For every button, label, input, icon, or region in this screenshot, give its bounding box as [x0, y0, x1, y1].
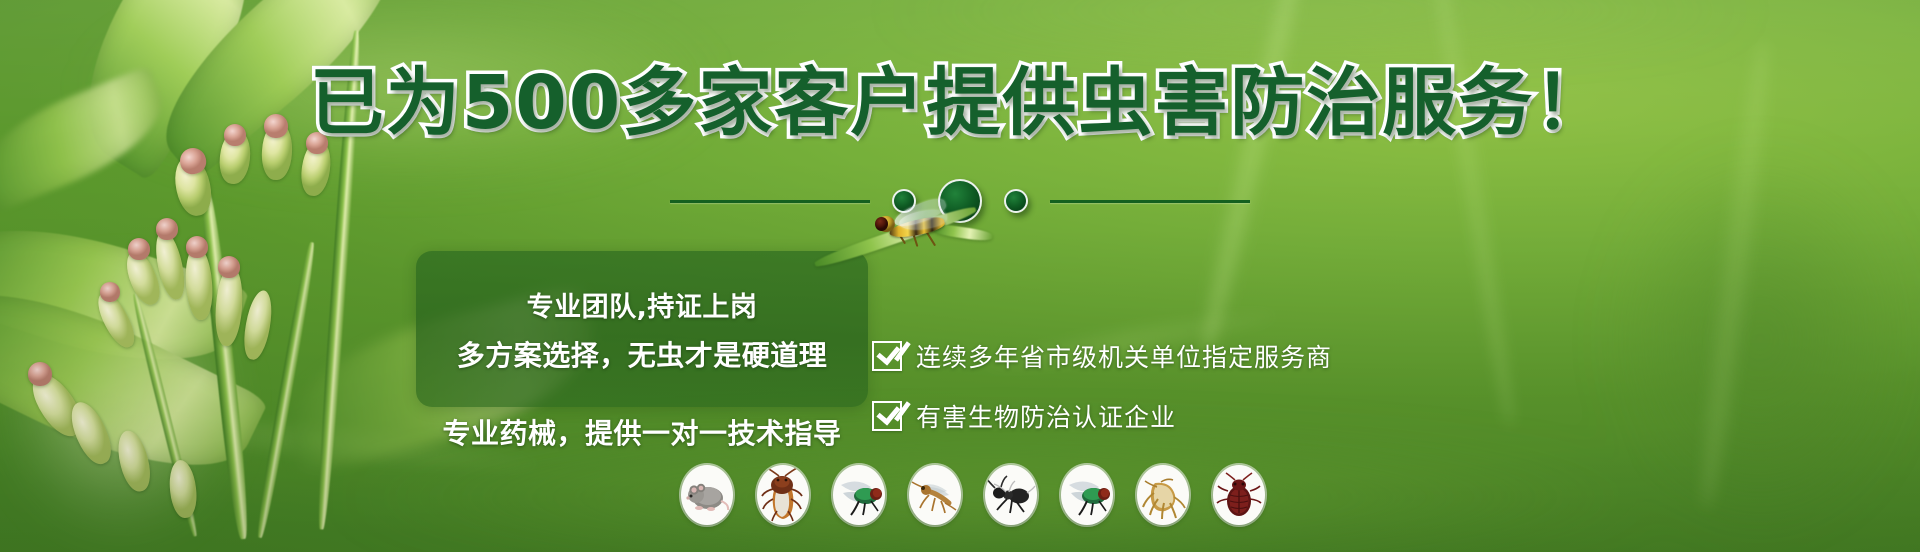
hoverfly-eye	[875, 217, 888, 231]
ant-icon: 蚂蚁	[985, 465, 1037, 525]
checklist-item: 有害生物防治认证企业	[872, 398, 1332, 434]
bedbug-icon: 臭虫	[1213, 465, 1265, 525]
mosquito-icon: 蚊	[909, 465, 961, 525]
checkbox-checked-icon	[872, 341, 902, 371]
green-fly-icon: 苍蝇	[1061, 465, 1113, 525]
promise-box: 专业团队,持证上岗 多方案选择，无虫才是硬道理	[416, 251, 868, 407]
hoverfly-body-group	[859, 198, 969, 256]
checklist-item-label: 连续多年省市级机关单位指定服务商	[916, 338, 1332, 374]
mouse-icon: 鼠	[681, 465, 733, 525]
benefits-checklist: 连续多年省市级机关单位指定服务商 有害生物防治认证企业	[872, 338, 1332, 434]
check-mark-stroke	[876, 388, 911, 422]
divider-line-right	[1050, 200, 1250, 203]
checklist-item: 连续多年省市级机关单位指定服务商	[872, 338, 1332, 374]
checklist-item-label: 有害生物防治认证企业	[916, 398, 1176, 434]
page-title: 已为500多家客户提供虫害防治服务！	[0, 66, 1920, 140]
green-fly-icon: 苍蝇	[833, 465, 885, 525]
pest-type-icons: 鼠 蟑螂	[681, 465, 1265, 525]
promise-line-3: 专业药械，提供一对一技术指导	[416, 412, 868, 452]
promise-line-2: 多方案选择，无虫才是硬道理	[416, 334, 868, 374]
page-title-text: 已为500多家客户提供虫害防治服务！	[310, 60, 1610, 146]
promise-block: 专业团队,持证上岗 多方案选择，无虫才是硬道理 专业药械，提供一对一技术指导	[416, 251, 868, 481]
promise-line-1: 专业团队,持证上岗	[416, 285, 868, 324]
pest-control-promo-banner: 已为500多家客户提供虫害防治服务！ 专业团队,持证上岗 多方案选择，无虫才是硬…	[0, 0, 1920, 552]
cockroach-icon: 蟑螂	[757, 465, 809, 525]
flea-icon: 跳蚤	[1137, 465, 1189, 525]
hoverfly-icon	[815, 196, 1035, 316]
checkbox-checked-icon	[872, 401, 902, 431]
